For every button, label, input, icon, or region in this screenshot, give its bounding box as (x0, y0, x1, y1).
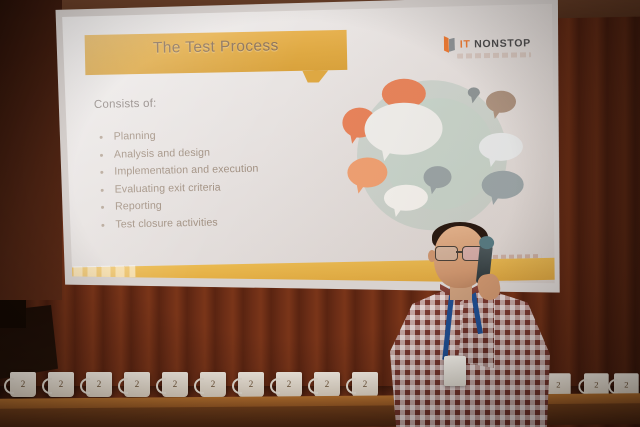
it-nonstop-logo: IT NONSTOP (444, 34, 531, 53)
speech-bubble-icon (479, 132, 524, 161)
logo-mark-icon (444, 36, 456, 53)
slide-bullet-list: PlanningAnalysis and designImplementatio… (97, 128, 260, 237)
logo-prefix: IT (460, 38, 471, 50)
slide-title: The Test Process (153, 35, 383, 58)
mug-logo: 2 (554, 379, 564, 390)
speech-bubble-icon (481, 170, 524, 199)
coffee-mug: 2 (10, 372, 36, 397)
mug-logo: 2 (56, 378, 66, 390)
mug-logo: 2 (18, 378, 28, 390)
speaker (382, 222, 554, 427)
mug-logo: 2 (592, 379, 602, 390)
coffee-mug: 2 (276, 372, 302, 397)
mug-logo: 2 (208, 378, 218, 390)
mug-logo: 2 (246, 378, 256, 390)
coffee-mug: 2 (86, 372, 112, 397)
title-banner-notch (302, 70, 328, 83)
speech-bubble-icon (486, 91, 516, 114)
mug-logo: 2 (94, 378, 104, 390)
slide-intro-text: Consists of: (94, 98, 157, 111)
photo-scene: The Test Process Consists of: PlanningAn… (0, 0, 640, 427)
mug-logo: 2 (360, 378, 370, 390)
coffee-mug: 2 (352, 372, 378, 397)
slide-bullet: Evaluating exit criteria (98, 180, 259, 195)
av-equipment-top (0, 300, 26, 328)
name-badge (444, 356, 466, 386)
slide-bullet: Planning (97, 128, 258, 143)
mug-logo: 2 (132, 378, 142, 390)
slide-bullet: Implementation and execution (97, 163, 258, 178)
mug-logo: 2 (284, 378, 294, 390)
coffee-mug: 2 (238, 372, 264, 397)
slide-bullet: Analysis and design (97, 145, 258, 160)
footer-label-illegible (73, 265, 135, 278)
coffee-mug: 2 (200, 372, 226, 397)
logo-name: NONSTOP (474, 37, 531, 50)
mug-logo: 2 (622, 379, 632, 390)
mug-logo: 2 (322, 378, 332, 390)
coffee-mug: 2 (124, 372, 150, 397)
logo-tagline-illegible (457, 52, 531, 58)
coffee-mug: 2 (314, 372, 340, 397)
slide-bullet: Reporting (98, 198, 259, 213)
slide-bullet: Test closure activities (98, 216, 259, 231)
coffee-mug: 2 (48, 372, 74, 397)
logo-text: IT NONSTOP (460, 37, 531, 50)
coffee-mug: 2 (162, 372, 188, 397)
mug-logo: 2 (170, 378, 180, 390)
